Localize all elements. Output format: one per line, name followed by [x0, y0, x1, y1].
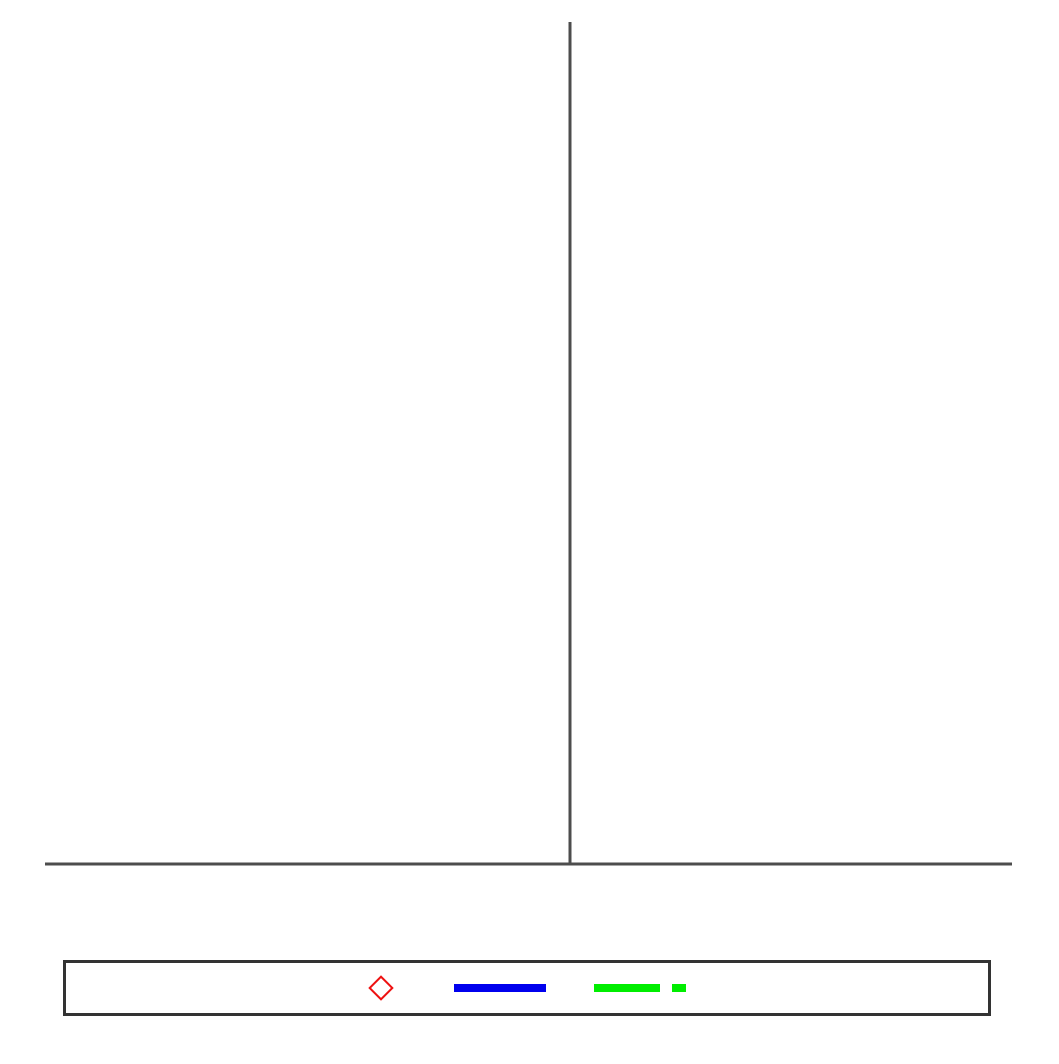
- axes-group: [45, 22, 1012, 864]
- chart-figure: [0, 0, 1059, 1064]
- plot-area: [0, 0, 1059, 950]
- dashed-line-icon: [594, 984, 686, 992]
- legend-entry-gamma-09: [570, 984, 710, 992]
- diamond-marker-icon: [368, 975, 393, 1000]
- legend: [63, 960, 991, 1016]
- legend-entry-gamma-005: [344, 979, 430, 997]
- legend-entry-gamma-05: [430, 984, 570, 992]
- solid-line-icon: [454, 984, 546, 992]
